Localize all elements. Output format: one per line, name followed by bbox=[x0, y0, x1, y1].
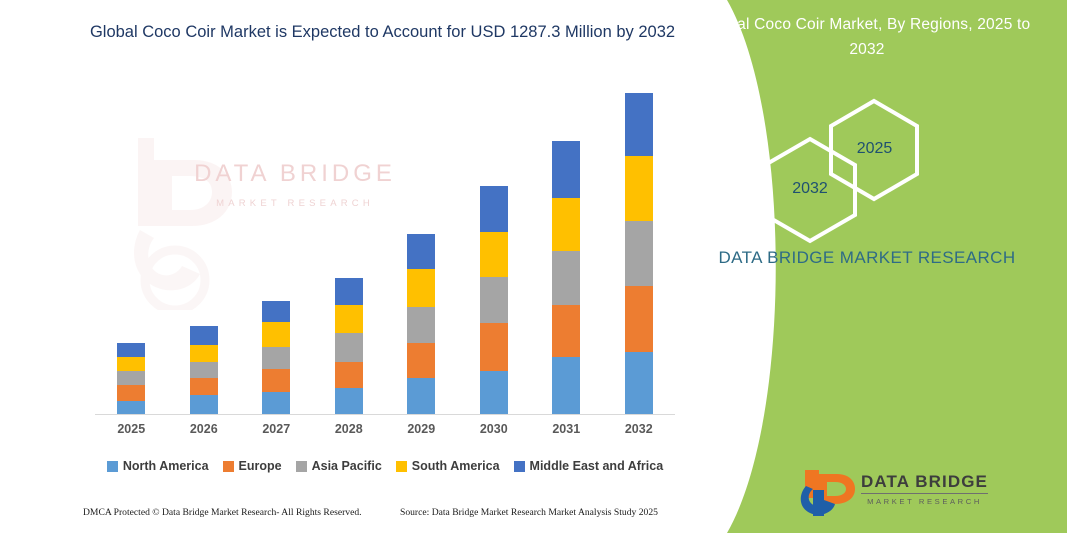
legend-label: South America bbox=[412, 459, 500, 473]
legend-item-south-america[interactable]: South America bbox=[396, 459, 500, 473]
green-side-panel: Global Coco Coir Market, By Regions, 202… bbox=[667, 0, 1067, 533]
legend-swatch-icon bbox=[514, 461, 525, 472]
legend-item-europe[interactable]: Europe bbox=[223, 459, 282, 473]
bar-segment bbox=[407, 343, 435, 378]
bar-segment bbox=[552, 141, 580, 198]
footer-copyright: DMCA Protected © Data Bridge Market Rese… bbox=[83, 507, 362, 518]
legend-item-asia-pacific[interactable]: Asia Pacific bbox=[296, 459, 382, 473]
hexagon-2032-label: 2032 bbox=[755, 133, 865, 245]
hexagon-2032: 2032 bbox=[755, 133, 865, 245]
bar-segment bbox=[552, 198, 580, 252]
bar-segment bbox=[480, 186, 508, 233]
bar-segment bbox=[552, 305, 580, 357]
bar-segment bbox=[335, 333, 363, 362]
bar-2031 bbox=[552, 141, 580, 415]
bar-segment bbox=[262, 369, 290, 392]
bar-segment bbox=[335, 278, 363, 305]
footer: DMCA Protected © Data Bridge Market Rese… bbox=[0, 505, 705, 527]
data-bridge-logo: DATA BRIDGE MARKET RESEARCH bbox=[797, 468, 1017, 520]
logo-title: DATA BRIDGE bbox=[861, 472, 988, 494]
bar-segment bbox=[190, 378, 218, 396]
x-axis-label-2027: 2027 bbox=[246, 422, 306, 436]
bar-segment bbox=[480, 232, 508, 276]
stacked-bar-chart bbox=[95, 90, 675, 415]
bar-segment bbox=[190, 345, 218, 361]
x-axis-label-2026: 2026 bbox=[174, 422, 234, 436]
page-title: Global Coco Coir Market is Expected to A… bbox=[60, 18, 705, 46]
bar-segment bbox=[552, 251, 580, 305]
bar-segment bbox=[625, 156, 653, 221]
x-axis-label-2031: 2031 bbox=[536, 422, 596, 436]
bar-segment bbox=[190, 395, 218, 415]
bar-2025 bbox=[117, 343, 145, 415]
bar-segment bbox=[480, 371, 508, 415]
x-axis-label-2025: 2025 bbox=[101, 422, 161, 436]
panel-title: Global Coco Coir Market, By Regions, 202… bbox=[697, 12, 1037, 62]
bar-segment bbox=[117, 385, 145, 401]
x-axis-label-2028: 2028 bbox=[319, 422, 379, 436]
bar-segment bbox=[190, 326, 218, 346]
bar-segment bbox=[117, 357, 145, 371]
bar-segment bbox=[335, 362, 363, 389]
bar-segment bbox=[335, 305, 363, 333]
x-axis-label-2030: 2030 bbox=[464, 422, 524, 436]
x-axis-labels: 20252026202720282029203020312032 bbox=[95, 422, 675, 444]
bar-segment bbox=[625, 221, 653, 286]
legend-swatch-icon bbox=[107, 461, 118, 472]
bar-2028 bbox=[335, 278, 363, 415]
bar-2030 bbox=[480, 186, 508, 415]
bar-segment bbox=[117, 371, 145, 385]
bar-2029 bbox=[407, 234, 435, 416]
bar-segment bbox=[262, 392, 290, 415]
legend-swatch-icon bbox=[223, 461, 234, 472]
bar-2032 bbox=[625, 93, 653, 415]
bar-segment bbox=[117, 343, 145, 357]
panel-brand-text: DATA BRIDGE MARKET RESEARCH bbox=[712, 245, 1022, 271]
bar-segment bbox=[407, 234, 435, 269]
data-bridge-logo-text: DATA BRIDGE MARKET RESEARCH bbox=[861, 472, 988, 506]
x-axis-label-2029: 2029 bbox=[391, 422, 451, 436]
bar-segment bbox=[190, 362, 218, 378]
legend-item-north-america[interactable]: North America bbox=[107, 459, 209, 473]
bar-segment bbox=[262, 322, 290, 347]
legend-label: Middle East and Africa bbox=[530, 459, 664, 473]
legend-swatch-icon bbox=[296, 461, 307, 472]
bar-segment bbox=[407, 307, 435, 343]
bar-segment bbox=[625, 93, 653, 156]
data-bridge-mark-icon bbox=[797, 468, 859, 518]
legend-label: North America bbox=[123, 459, 209, 473]
bar-segment bbox=[552, 357, 580, 415]
bar-2027 bbox=[262, 301, 290, 415]
bar-segment bbox=[407, 378, 435, 415]
legend-item-middle-east-and-africa[interactable]: Middle East and Africa bbox=[514, 459, 664, 473]
infographic-page: Global Coco Coir Market is Expected to A… bbox=[0, 0, 1067, 533]
bar-2026 bbox=[190, 326, 218, 416]
bar-segment bbox=[335, 388, 363, 415]
bar-segment bbox=[480, 277, 508, 324]
bar-segment bbox=[625, 286, 653, 352]
bar-segment bbox=[480, 323, 508, 371]
legend-label: Asia Pacific bbox=[312, 459, 382, 473]
logo-subtitle: MARKET RESEARCH bbox=[861, 497, 988, 506]
bar-segment bbox=[117, 401, 145, 415]
bar-segment bbox=[407, 269, 435, 307]
chart-legend: North AmericaEuropeAsia PacificSouth Ame… bbox=[95, 455, 675, 477]
bar-segment bbox=[262, 347, 290, 369]
legend-swatch-icon bbox=[396, 461, 407, 472]
legend-label: Europe bbox=[239, 459, 282, 473]
x-axis-label-2032: 2032 bbox=[609, 422, 669, 436]
bar-segment bbox=[625, 352, 653, 415]
x-axis-line bbox=[95, 414, 675, 415]
footer-source: Source: Data Bridge Market Research Mark… bbox=[400, 507, 658, 518]
bar-segment bbox=[262, 301, 290, 322]
